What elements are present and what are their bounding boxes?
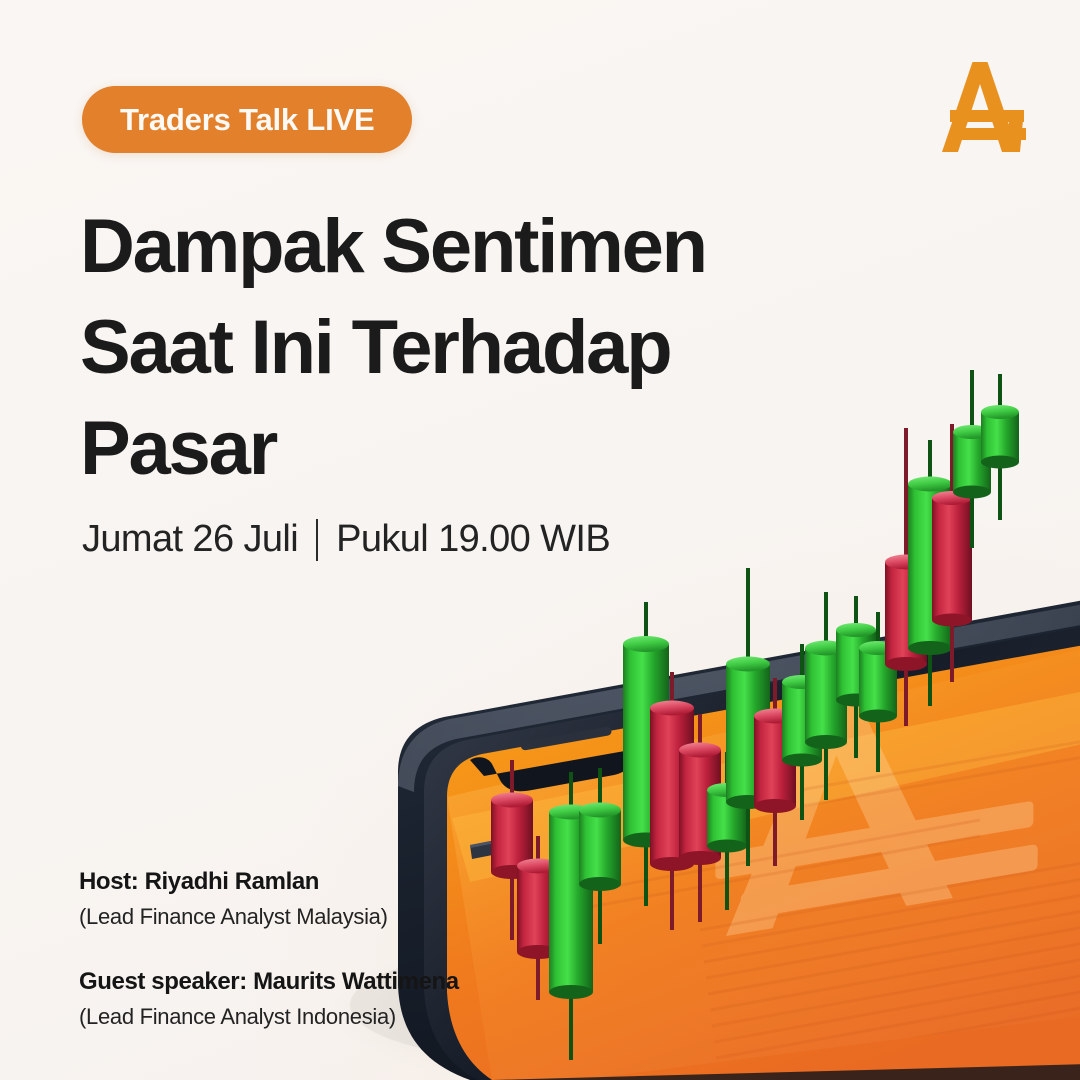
candle-5 <box>623 602 669 906</box>
phone-notch <box>470 718 664 791</box>
guest-name: Guest speaker: Maurits Wattimena <box>79 966 599 998</box>
live-badge[interactable]: Traders Talk LIVE <box>82 86 412 153</box>
live-badge-label: Traders Talk LIVE <box>120 102 374 138</box>
candle-11 <box>782 644 822 820</box>
candle-16 <box>908 440 952 706</box>
event-time: Pukul 19.00 WIB <box>336 513 610 565</box>
guest-credit: Guest speaker: Maurits Wattimena (Lead F… <box>79 966 599 1032</box>
ascendex-a-logo <box>928 56 1032 160</box>
candle-6 <box>650 672 694 930</box>
candle-13 <box>836 596 876 758</box>
headline-line-3: Pasar <box>80 398 860 499</box>
candle-17 <box>932 424 972 682</box>
host-name: Host: Riyadhi Ramlan <box>79 866 599 898</box>
candle-15 <box>885 428 927 726</box>
speaker-credits: Host: Riyadhi Ramlan (Lead Finance Analy… <box>79 866 599 1032</box>
earpiece-speaker <box>520 726 612 751</box>
candle-7 <box>679 714 721 922</box>
guest-role: (Lead Finance Analyst Indonesia) <box>79 1001 599 1032</box>
candle-12 <box>805 592 847 800</box>
candle-19 <box>981 374 1019 520</box>
candle-14 <box>859 612 897 772</box>
screen-stripes <box>560 740 1080 1074</box>
page-title: Dampak Sentimen Saat Ini Terhadap Pasar <box>80 196 860 499</box>
candle-18 <box>953 370 991 548</box>
event-schedule: Jumat 26 Juli Pukul 19.00 WIB <box>82 513 610 565</box>
a-logo-watermark <box>715 674 1037 938</box>
promo-poster: Traders Talk LIVE Dampak Sentimen Saat I… <box>0 0 1080 1080</box>
headline-line-2: Saat Ini Terhadap <box>80 297 860 398</box>
candle-8 <box>707 752 747 910</box>
schedule-divider <box>316 519 318 561</box>
side-button <box>470 838 508 859</box>
host-role: (Lead Finance Analyst Malaysia) <box>79 901 599 932</box>
host-credit: Host: Riyadhi Ramlan (Lead Finance Analy… <box>79 866 599 932</box>
event-date: Jumat 26 Juli <box>82 513 298 565</box>
candle-10 <box>754 678 796 866</box>
headline-line-1: Dampak Sentimen <box>80 196 860 297</box>
candle-9 <box>726 568 770 866</box>
